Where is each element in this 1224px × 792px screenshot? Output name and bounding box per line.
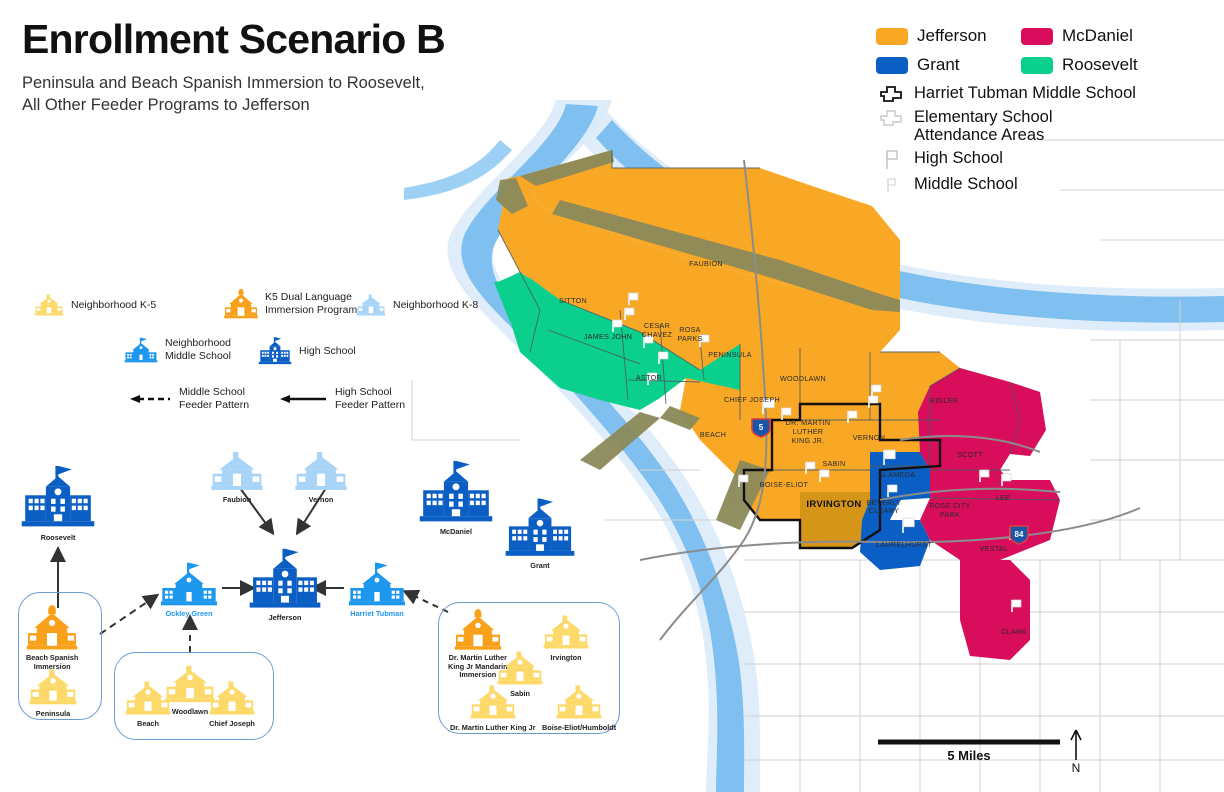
node-label-jefferson: Jefferson xyxy=(269,614,302,623)
school-middle-icon xyxy=(344,560,410,608)
map-area-label: WOODLAWN xyxy=(780,374,826,383)
icon-key-label-ms-feeder: Middle School Feeder Pattern xyxy=(179,386,249,411)
school-high-icon xyxy=(248,546,322,612)
node-label-vernon: Vernon xyxy=(309,496,334,505)
school-k8-icon xyxy=(208,448,266,494)
node-label-grant: Grant xyxy=(530,562,549,571)
legend-label-tubman-boundary: Harriet Tubman Middle School xyxy=(914,84,1136,102)
node-mlk-jr[interactable]: Dr. Martin Luther King Jr xyxy=(450,682,536,733)
school-k5-icon xyxy=(469,682,517,722)
legend-item-mcdaniel[interactable]: McDaniel xyxy=(1021,26,1166,46)
school-k5-icon xyxy=(555,682,603,722)
map-area-label: CHIEF JOSEPH xyxy=(724,395,780,404)
swatch-jefferson xyxy=(876,28,908,45)
map-area-label: LEE xyxy=(996,493,1011,502)
legend-label-jefferson: Jefferson xyxy=(917,26,987,46)
node-label-mlk-jr: Dr. Martin Luther King Jr xyxy=(450,724,536,733)
icon-key-label-k5: Neighborhood K-5 xyxy=(71,299,156,312)
node-label-harriet-tubman: Harriet Tubman xyxy=(350,610,403,619)
area-vestal-clark xyxy=(960,560,1030,660)
legend-item-elementary-boundary[interactable]: Elementary School Attendance Areas xyxy=(876,108,1166,145)
highway-shield-icon: 5 xyxy=(752,419,770,437)
map-area-label: RIGLER xyxy=(930,396,959,405)
node-label-mcdaniel: McDaniel xyxy=(440,528,472,537)
icon-key-middle: Neighborhood Middle School xyxy=(124,336,231,364)
legend-label-middle-school: Middle School xyxy=(914,175,1018,193)
legend-row-2: Grant Roosevelt xyxy=(876,55,1166,75)
swatch-roosevelt xyxy=(1021,57,1053,74)
flag-small-icon xyxy=(876,175,906,195)
map-area-label: SITTON xyxy=(559,296,587,305)
legend-item-grant[interactable]: Grant xyxy=(876,55,1021,75)
map-area-label: CLEARY xyxy=(869,506,899,515)
svg-text:84: 84 xyxy=(1015,530,1024,539)
map-area-label: DR. MARTIN xyxy=(786,418,831,427)
icon-key-label-middle: Neighborhood Middle School xyxy=(165,337,231,362)
icon-key-high: High School xyxy=(258,336,356,366)
legend-item-middle-school[interactable]: Middle School xyxy=(876,175,1166,195)
node-label-faubion: Faubion xyxy=(223,496,251,505)
node-grant[interactable]: Grant xyxy=(504,496,576,571)
school-high-icon xyxy=(504,496,576,560)
legend-label-mcdaniel: McDaniel xyxy=(1062,26,1133,46)
node-harriet-tubman[interactable]: Harriet Tubman xyxy=(344,560,410,619)
map-area-label: ALAMEDA xyxy=(879,470,915,479)
school-immersion-icon xyxy=(454,608,502,652)
map-area-label: SABIN xyxy=(822,459,845,468)
school-k5-icon xyxy=(34,292,64,318)
svg-text:5: 5 xyxy=(759,423,764,432)
node-label-woodlawn: Woodlawn xyxy=(172,708,208,717)
map-area-label: CESAR xyxy=(644,321,670,330)
map-area-label: CLARK xyxy=(1001,627,1026,636)
node-label-ockley-green: Ockley Green xyxy=(165,610,212,619)
swatch-mcdaniel xyxy=(1021,28,1053,45)
dashed-arrow-icon xyxy=(128,392,172,406)
map-area-label: SCOTT xyxy=(957,450,983,459)
map-area-label: ROSA xyxy=(679,325,701,334)
map-poster: Enrollment Scenario B Peninsula and Beac… xyxy=(0,0,1224,792)
icon-key-label-high: High School xyxy=(299,345,356,358)
node-mcdaniel[interactable]: McDaniel xyxy=(418,458,494,537)
node-faubion[interactable]: Faubion xyxy=(208,448,266,505)
icon-key-label-k8: Neighborhood K-8 xyxy=(393,299,478,312)
node-roosevelt[interactable]: Roosevelt xyxy=(20,462,96,543)
node-label-beach: Beach xyxy=(137,720,159,729)
north-arrow-icon xyxy=(1071,730,1081,760)
map-area-label: LAURELHURST xyxy=(876,540,932,549)
map-area-label: BEACH xyxy=(700,430,726,439)
map-area-label: ASTOR xyxy=(636,373,662,382)
node-boise-eliot-humboldt[interactable]: Boise-Eliot/Humboldt xyxy=(542,682,616,733)
node-chief-joseph[interactable]: Chief Joseph xyxy=(208,678,256,729)
node-label-roosevelt: Roosevelt xyxy=(41,534,76,543)
school-high-icon xyxy=(418,458,494,526)
node-irvington[interactable]: Irvington xyxy=(542,612,590,663)
node-ockley-green[interactable]: Ockley Green xyxy=(156,560,222,619)
swatch-grant xyxy=(876,57,908,74)
map-area-label: ROSE CITY xyxy=(929,501,970,510)
map-area-label: JAMES JOHN xyxy=(584,332,633,341)
school-k5-icon xyxy=(542,612,590,652)
node-peninsula[interactable]: Peninsula xyxy=(28,666,78,719)
node-vernon[interactable]: Vernon xyxy=(292,448,350,505)
map-area-label: IRVINGTON xyxy=(806,499,861,510)
school-k8-icon xyxy=(292,448,350,494)
legend-item-roosevelt[interactable]: Roosevelt xyxy=(1021,55,1166,75)
map-area-label: LUTHER xyxy=(793,427,824,436)
icon-key-label-hs-feeder: High School Feeder Pattern xyxy=(335,386,405,411)
map-area-label: PENINSULA xyxy=(708,350,751,359)
icon-key-ms-feeder: Middle School Feeder Pattern xyxy=(128,386,249,411)
icon-key-immersion: K5 Dual Language Immersion Program xyxy=(224,288,357,320)
legend-label-high-school: High School xyxy=(914,149,1003,167)
icon-key-label-immersion: K5 Dual Language Immersion Program xyxy=(265,291,357,316)
feeder-pattern-diagram: Roosevelt Beach Spanish Immersion xyxy=(0,440,640,792)
boundary-bold-icon xyxy=(876,84,906,104)
boundary-light-icon xyxy=(876,108,906,128)
node-beach-spanish-immersion[interactable]: Beach Spanish Immersion xyxy=(26,604,78,671)
school-middle-icon xyxy=(156,560,222,608)
legend: Jefferson McDaniel Grant Roosevelt xyxy=(876,26,1166,199)
legend-label-grant: Grant xyxy=(917,55,960,75)
icon-key-k5: Neighborhood K-5 xyxy=(34,292,156,318)
node-jefferson[interactable]: Jefferson xyxy=(248,546,322,623)
school-immersion-icon xyxy=(224,288,258,320)
legend-label-elementary-boundary: Elementary School Attendance Areas xyxy=(914,108,1132,145)
map-area-label: PARKS xyxy=(677,334,702,343)
north-label: N xyxy=(1072,761,1081,775)
map-area-label: VERNON xyxy=(853,433,886,442)
arrow-tubman-feeders-to-tubman xyxy=(406,592,448,612)
map-area-label: VESTAL xyxy=(980,544,1009,553)
map-area-label: PARK xyxy=(940,510,960,519)
node-label-irvington: Irvington xyxy=(550,654,581,663)
solid-arrow-icon xyxy=(278,392,328,406)
legend-item-high-school[interactable]: High School xyxy=(876,149,1166,171)
scale-label: 5 Miles xyxy=(947,748,990,763)
highway-shield-icon: 84 xyxy=(1010,526,1028,544)
school-k5-icon xyxy=(28,666,78,708)
map-area-label: BOISE-ELIOT xyxy=(760,480,809,489)
map-area-label: CHAVEZ xyxy=(642,330,673,339)
legend-label-roosevelt: Roosevelt xyxy=(1062,55,1138,75)
map-area-label: KING JR. xyxy=(792,436,825,445)
school-middle-icon xyxy=(124,336,158,364)
flag-large-icon xyxy=(876,149,906,171)
legend-item-jefferson[interactable]: Jefferson xyxy=(876,26,1021,46)
node-label-chief-joseph: Chief Joseph xyxy=(209,720,255,729)
node-label-boise-eliot-humboldt: Boise-Eliot/Humboldt xyxy=(542,724,616,733)
map-area-label: FAUBION xyxy=(689,259,723,268)
school-high-icon xyxy=(20,462,96,532)
school-high-icon xyxy=(258,336,292,366)
node-label-peninsula: Peninsula xyxy=(36,710,70,719)
legend-item-tubman-boundary[interactable]: Harriet Tubman Middle School xyxy=(876,84,1166,104)
school-immersion-icon xyxy=(26,604,78,652)
arrow-beach-immersion-to-ockley-green xyxy=(100,596,156,634)
school-k8-icon xyxy=(356,292,386,318)
legend-row-1: Jefferson McDaniel xyxy=(876,26,1166,46)
icon-key-k8: Neighborhood K-8 xyxy=(356,292,478,318)
icon-key-hs-feeder: High School Feeder Pattern xyxy=(278,386,405,411)
school-k5-icon xyxy=(208,678,256,718)
